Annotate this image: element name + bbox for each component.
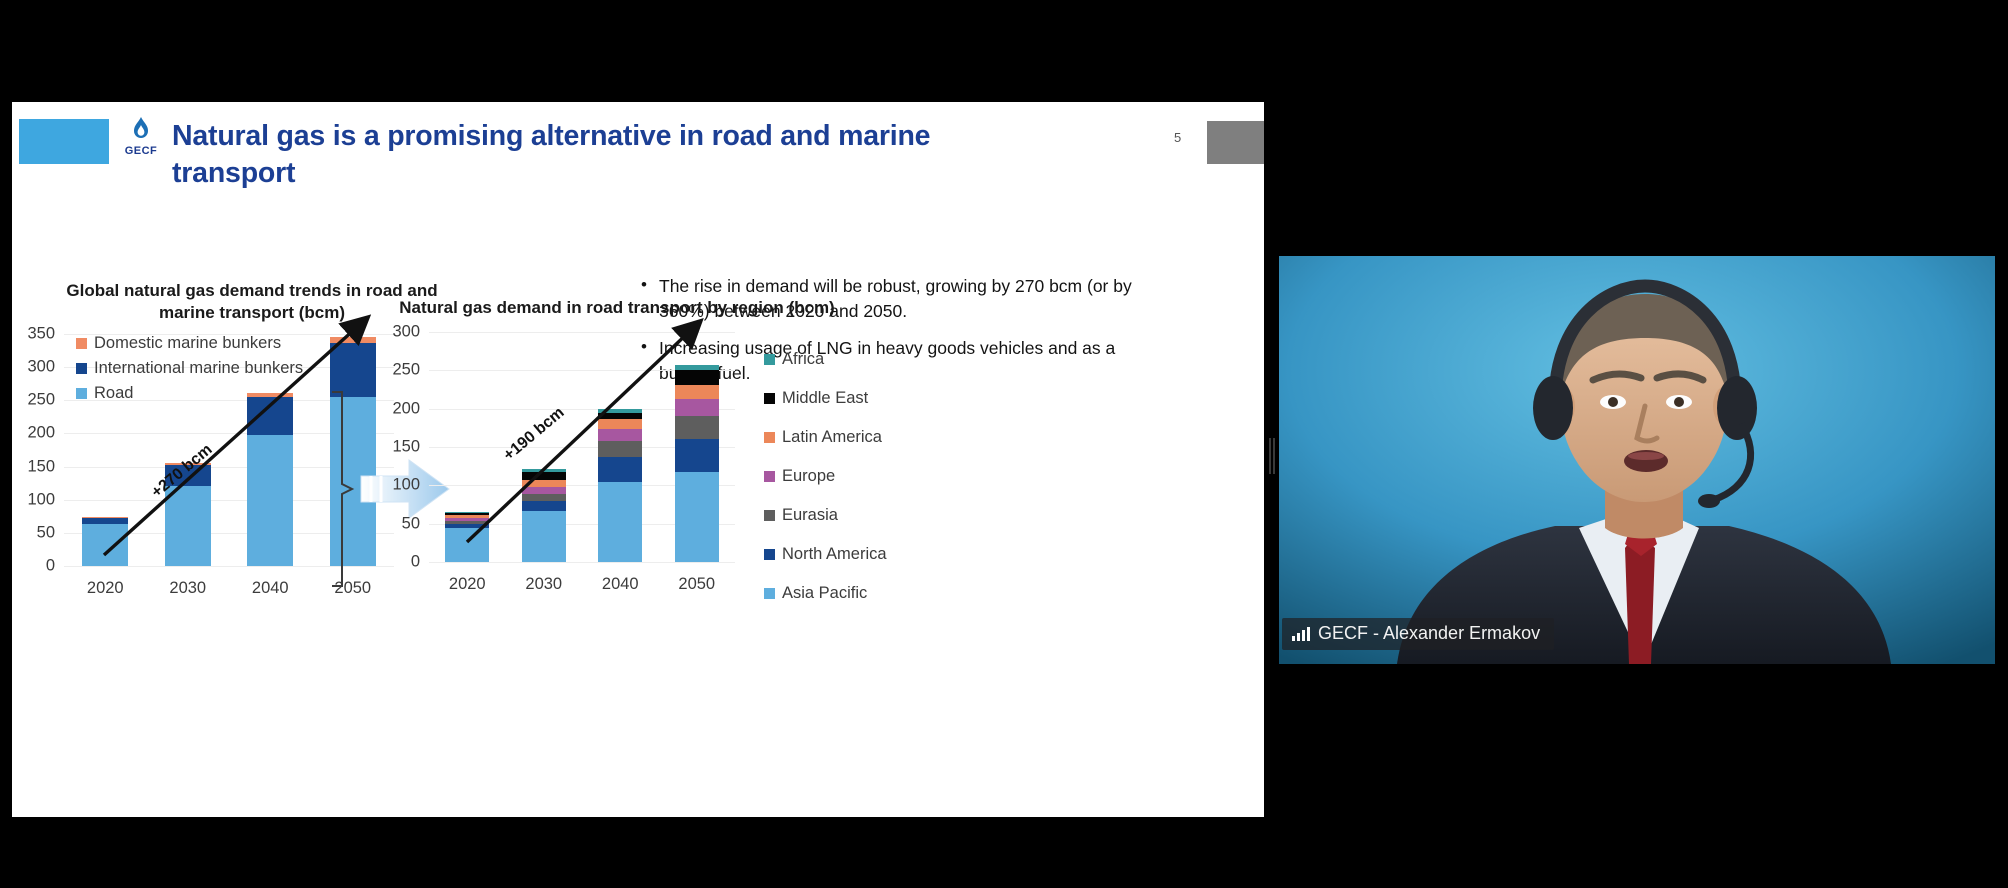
legend-label: Asia Pacific [782,584,867,603]
legend-item[interactable]: International marine bunkers [76,359,303,378]
y-axis-tick-label: 350 [27,325,55,344]
legend-item[interactable]: Latin America [764,428,887,447]
x-axis-tick-label: 2030 [169,579,206,598]
bar-segment [598,409,642,412]
flame-icon [128,116,154,148]
y-axis-tick-label: 200 [392,399,420,418]
bar-segment [82,518,128,524]
x-axis-tick-label: 2030 [525,575,562,594]
x-axis-tick-label: 2020 [449,575,486,594]
bar-segment [598,457,642,482]
legend-swatch [764,588,775,599]
screen: GECF Natural gas is a promising alternat… [0,0,2008,888]
legend-label: International marine bunkers [94,359,303,378]
legend-swatch [764,354,775,365]
legend-swatch [764,432,775,443]
participant-name-label: GECF - Alexander Ermakov [1318,623,1540,644]
legend-item[interactable]: Middle East [764,389,887,408]
gecf-logo: GECF [115,116,167,168]
y-axis-tick-label: 250 [27,391,55,410]
bar-segment [445,512,489,513]
bar-segment [675,365,719,370]
bar-segment [330,337,376,342]
legend-swatch [76,388,87,399]
x-axis-tick-label: 2050 [678,575,715,594]
legend-item[interactable]: Africa [764,350,887,369]
bar-segment [598,441,642,457]
bar-segment [165,486,211,566]
slide-page-number: 5 [1174,130,1181,145]
bar-segment [82,524,128,566]
y-axis-tick-label: 0 [46,557,55,576]
y-axis-tick-label: 100 [27,490,55,509]
y-axis-tick-label: 150 [392,438,420,457]
bar-segment [522,480,566,487]
legend-item[interactable]: Europe [764,467,887,486]
bar-segment [598,482,642,563]
decorative-blue-block [19,119,109,164]
signal-bars-icon [1292,626,1310,641]
bar-segment [445,515,489,517]
bar-segment [522,511,566,562]
legend-label: Latin America [782,428,882,447]
y-axis-tick-label: 50 [402,514,420,533]
bar-segment [445,528,489,562]
bar-segment [598,413,642,420]
left-chart-legend: Domestic marine bunkersInternational mar… [76,334,303,409]
legend-swatch [764,510,775,521]
y-axis-tick-label: 300 [392,323,420,342]
bar-segment [247,435,293,566]
scrollbar-handle[interactable] [1268,438,1278,474]
legend-label: North America [782,545,887,564]
bar-segment [598,419,642,429]
bar-segment [675,472,719,562]
y-axis-tick-label: 50 [37,523,55,542]
participant-name-tag: GECF - Alexander Ermakov [1282,618,1554,650]
y-axis-tick-label: 0 [411,553,420,572]
legend-item[interactable]: Eurasia [764,506,887,525]
bar-segment [598,429,642,441]
bar-column [675,332,719,562]
bar-segment [522,472,566,480]
x-axis-tick-label: 2020 [87,579,124,598]
decorative-gray-block [1207,121,1264,164]
legend-swatch [764,393,775,404]
bar-segment [445,513,489,515]
bar-segment [675,370,719,385]
y-axis-tick-label: 300 [27,358,55,377]
bar-segment [82,517,128,518]
legend-label: Europe [782,467,835,486]
bar-segment [445,521,489,524]
right-chart-plot-area: 0501001502002503002020203020402050 [429,332,735,562]
right-chart-title: Natural gas demand in road transport by … [392,297,842,319]
legend-label: Middle East [782,389,868,408]
right-chart-legend: AfricaMiddle EastLatin AmericaEuropeEura… [764,350,887,623]
y-axis-tick-label: 100 [392,476,420,495]
slide-header: GECF Natural gas is a promising alternat… [12,102,1264,172]
legend-item[interactable]: Asia Pacific [764,584,887,603]
bar-segment [445,524,489,529]
slide-title: Natural gas is a promising alternative i… [172,118,962,192]
bar-segment [675,416,719,439]
bar-segment [675,385,719,400]
legend-swatch [76,363,87,374]
participant-video-image [1279,256,1995,664]
bar-segment [522,501,566,512]
bar-column [445,332,489,562]
bar-segment [675,399,719,416]
x-axis-tick-label: 2040 [252,579,289,598]
gridline [429,562,735,563]
x-axis-tick-label: 2040 [602,575,639,594]
legend-swatch [764,549,775,560]
bar-column [598,332,642,562]
legend-swatch [764,471,775,482]
legend-swatch [76,338,87,349]
video-participant-tile[interactable]: GECF [1279,256,1995,664]
bar-segment [522,469,566,472]
legend-label: Domestic marine bunkers [94,334,281,353]
bar-segment [522,487,566,494]
bar-segment [445,518,489,521]
bar-segment [330,343,376,397]
y-axis-tick-label: 250 [392,361,420,380]
legend-label: Road [94,384,133,403]
legend-label: Eurasia [782,506,838,525]
bar-segment [675,439,719,471]
gecf-logo-text: GECF [115,145,167,157]
y-axis-tick-label: 200 [27,424,55,443]
legend-label: Africa [782,350,824,369]
legend-item[interactable]: North America [764,545,887,564]
y-axis-tick-label: 150 [27,457,55,476]
presentation-slide: GECF Natural gas is a promising alternat… [12,102,1264,817]
legend-item[interactable]: Domestic marine bunkers [76,334,303,353]
legend-item[interactable]: Road [76,384,303,403]
bar-segment [522,494,566,501]
